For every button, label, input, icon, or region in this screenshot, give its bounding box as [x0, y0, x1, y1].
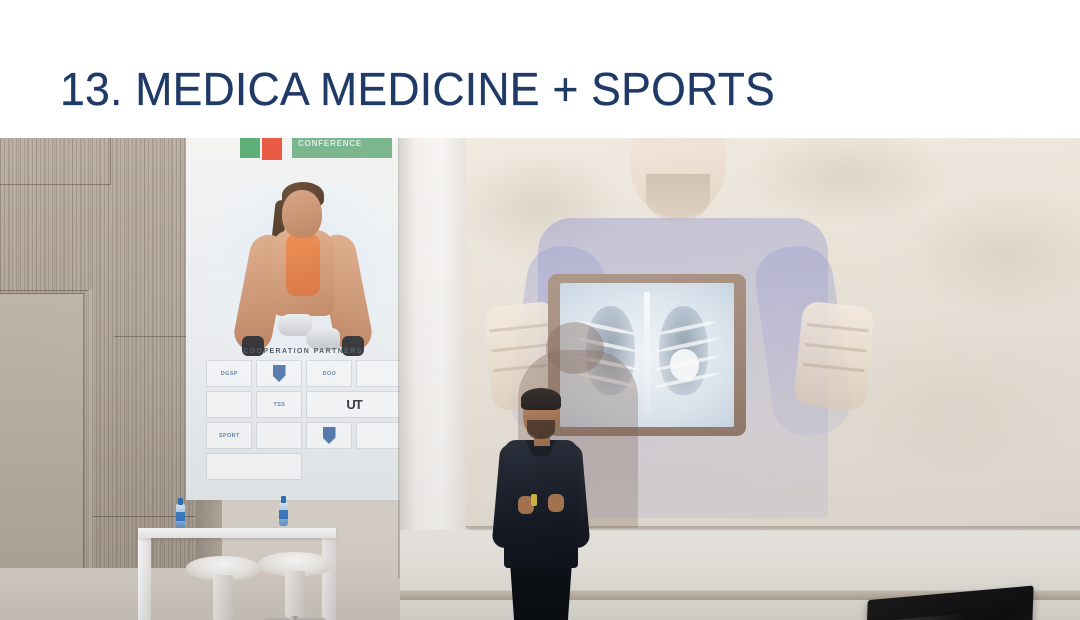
wall-seam	[114, 336, 196, 337]
stage-table-leg-right	[322, 536, 336, 620]
athlete-shoe-right	[306, 328, 340, 350]
stage-table-top	[138, 528, 336, 538]
partner-logo-label: DGSP	[220, 371, 237, 377]
page-root: 13. MEDICA MEDICINE + SPORTS CONFERENCE …	[0, 0, 1080, 620]
wall-seam	[0, 184, 110, 185]
speaker-hand-right	[548, 494, 564, 512]
projected-doctor-beard	[646, 174, 710, 222]
partner-shield-icon	[323, 427, 336, 444]
wall-seam	[0, 290, 88, 291]
partner-logo-tile	[356, 360, 402, 387]
cooperation-partners-label: COOPERATION PARTNERS	[220, 348, 386, 355]
partner-logo-tile: UT	[306, 391, 402, 418]
partner-logo-tile	[206, 453, 302, 480]
bar-stool-neck	[285, 571, 305, 619]
wall-seam	[110, 138, 111, 185]
partner-logo-label: DOO	[322, 371, 336, 377]
partner-logo-grid: DGSP DOO TSS UT SPORT	[206, 360, 402, 480]
partner-logo-tile: DOO	[306, 360, 352, 387]
xray-spine	[644, 292, 649, 413]
partner-logo-label: TSS	[273, 402, 285, 408]
speaker-shirt	[504, 440, 578, 568]
speaker-legs	[510, 562, 572, 620]
speaker-presenter-remote	[531, 494, 537, 506]
water-bottle	[279, 496, 288, 526]
wood-panel-wall	[0, 138, 196, 568]
sponsor-poster: CONFERENCE COOPERATION PARTNERS DGSP DOO	[186, 138, 418, 500]
partner-logo-tile: SPORT	[206, 422, 252, 449]
partner-shield-icon	[273, 365, 286, 382]
water-bottle	[176, 498, 185, 528]
wall-door	[0, 293, 84, 568]
partner-logo-label: UT	[346, 397, 361, 412]
partner-logo-tile	[256, 422, 302, 449]
flag-red-band	[262, 138, 282, 160]
partner-logo-tile	[206, 391, 252, 418]
conference-photo: CONFERENCE COOPERATION PARTNERS DGSP DOO	[0, 138, 1080, 620]
poster-green-banner: CONFERENCE	[292, 138, 392, 158]
bar-stool-post	[290, 616, 299, 620]
bar-stool-neck	[213, 575, 233, 620]
stage-table-leg-left	[138, 536, 151, 620]
athlete-sports-top	[286, 234, 320, 296]
wall-pillar	[400, 138, 470, 578]
partner-logo-tile	[306, 422, 352, 449]
speaker-hair	[521, 388, 561, 410]
poster-green-banner-label: CONFERENCE	[298, 139, 362, 148]
flag-green-band	[240, 138, 260, 158]
partner-logo-tile: TSS	[256, 391, 302, 418]
monitor-reflection	[893, 611, 990, 620]
page-title-line-1: 13. MEDICA MEDICINE + SPORTS	[60, 64, 1011, 114]
partner-logo-tile	[256, 360, 302, 387]
page-header: 13. MEDICA MEDICINE + SPORTS CONFERENCE	[0, 0, 1080, 138]
projected-doctor-hand-right	[793, 301, 875, 412]
partner-logo-tile: DGSP	[206, 360, 252, 387]
partner-logo-label: SPORT	[219, 433, 240, 439]
partner-logo-tile	[356, 422, 402, 449]
speaker-beard	[527, 420, 555, 439]
athlete-head	[282, 190, 322, 238]
wall-panel-edge	[88, 290, 94, 568]
